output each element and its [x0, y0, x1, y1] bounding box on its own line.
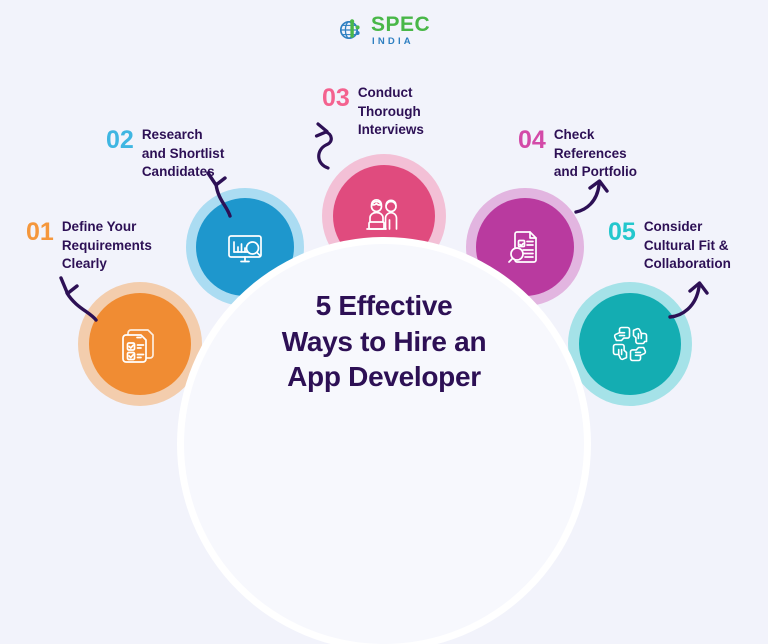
page-title: 5 Effective Ways to Hire an App Develope… — [224, 288, 544, 395]
step-text-01: Define Your Requirements Clearly — [62, 218, 152, 274]
arrow-to-step-01 — [48, 268, 110, 324]
teamwork-hands-icon — [607, 321, 653, 367]
page-title-line-3: App Developer — [224, 359, 544, 395]
infographic-canvas: SPEC INDIA — [0, 0, 768, 422]
step-label-02: 02 Research and Shortlist Candidates — [106, 126, 276, 182]
interview-people-icon — [361, 193, 407, 239]
brand-name-primary: SPEC — [371, 14, 430, 35]
step-number-02: 02 — [106, 126, 134, 155]
step-text-02: Research and Shortlist Candidates — [142, 126, 225, 182]
globe-icon — [340, 17, 366, 43]
checklist-document-icon — [117, 321, 163, 367]
step-number-03: 03 — [322, 84, 350, 113]
step-text-04: Check References and Portfolio — [554, 126, 637, 182]
arrow-to-step-05 — [666, 272, 720, 324]
page-title-line-2: Ways to Hire an — [224, 324, 544, 360]
step-text-03: Conduct Thorough Interviews — [358, 84, 424, 140]
step-number-04: 04 — [518, 126, 546, 155]
step-number-01: 01 — [26, 218, 54, 247]
brand-name-secondary: INDIA — [372, 37, 430, 47]
monitor-chart-search-icon — [223, 225, 267, 269]
step-label-04: 04 Check References and Portfolio — [518, 126, 683, 182]
step-number-05: 05 — [608, 218, 636, 247]
page-title-line-1: 5 Effective — [224, 288, 544, 324]
brand-logo: SPEC INDIA — [340, 12, 445, 48]
step-label-03: 03 Conduct Thorough Interviews — [322, 84, 482, 140]
resume-search-icon — [503, 225, 547, 269]
step-label-05: 05 Consider Cultural Fit & Collaboration — [608, 218, 768, 274]
step-text-05: Consider Cultural Fit & Collaboration — [644, 218, 731, 274]
step-label-01: 01 Define Your Requirements Clearly — [26, 218, 186, 274]
